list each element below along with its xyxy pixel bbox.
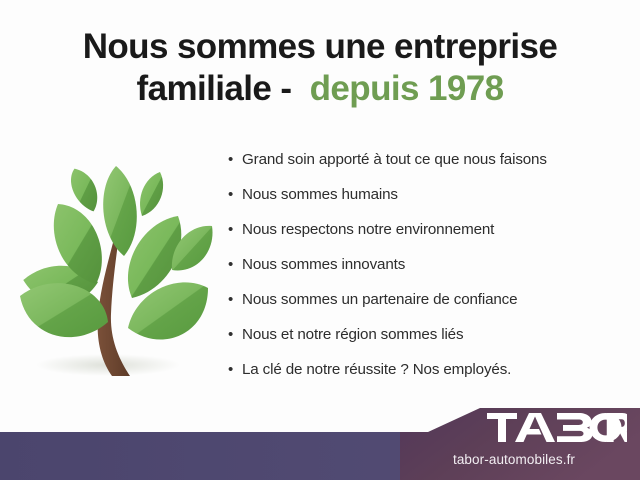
title-dash xyxy=(271,69,280,108)
bullet-marker-icon: • xyxy=(228,360,242,380)
list-item-label: Nous respectons notre environnement xyxy=(242,220,494,240)
list-item-label: Nous sommes innovants xyxy=(242,255,405,275)
title-accent: depuis 1978 xyxy=(310,69,504,108)
tree-icon xyxy=(12,150,224,388)
tree-illustration xyxy=(12,150,224,388)
list-item: • La clé de notre réussite ? Nos employé… xyxy=(228,360,640,395)
brand-url: tabor-automobiles.fr xyxy=(400,452,628,467)
list-item-label: Grand soin apporté à tout ce que nous fa… xyxy=(242,150,547,170)
bullet-marker-icon: • xyxy=(228,325,242,345)
list-item: • Nous respectons notre environnement xyxy=(228,220,640,255)
bullet-marker-icon: • xyxy=(228,150,242,170)
title-line-1: Nous sommes une entreprise xyxy=(0,26,640,68)
bullet-marker-icon: • xyxy=(228,290,242,310)
bullet-marker-icon: • xyxy=(228,185,242,205)
page-title: Nous sommes une entreprise familiale - d… xyxy=(0,26,640,110)
brand-logo xyxy=(487,413,627,443)
slide-canvas: Nous sommes une entreprise familiale - d… xyxy=(0,0,640,480)
list-item: • Nous et notre région sommes liés xyxy=(228,325,640,360)
bullet-marker-icon: • xyxy=(228,220,242,240)
list-item-label: Nous sommes humains xyxy=(242,185,398,205)
benefits-list: • Grand soin apporté à tout ce que nous … xyxy=(228,150,640,395)
list-item: • Grand soin apporté à tout ce que nous … xyxy=(228,150,640,185)
title-line-2: familiale - depuis 1978 xyxy=(0,68,640,110)
tabor-wordmark-icon xyxy=(487,413,627,443)
title-dash-glyph: - xyxy=(280,69,291,108)
title-gap xyxy=(291,69,309,108)
list-item: • Nous sommes innovants xyxy=(228,255,640,290)
list-item-label: Nous et notre région sommes liés xyxy=(242,325,463,345)
list-item-label: Nous sommes un partenaire de confiance xyxy=(242,290,517,310)
list-item-label: La clé de notre réussite ? Nos employés. xyxy=(242,360,511,380)
title-line-2-prefix: familiale xyxy=(137,69,272,108)
list-item: • Nous sommes un partenaire de confiance xyxy=(228,290,640,325)
bullet-marker-icon: • xyxy=(228,255,242,275)
list-item: • Nous sommes humains xyxy=(228,185,640,220)
